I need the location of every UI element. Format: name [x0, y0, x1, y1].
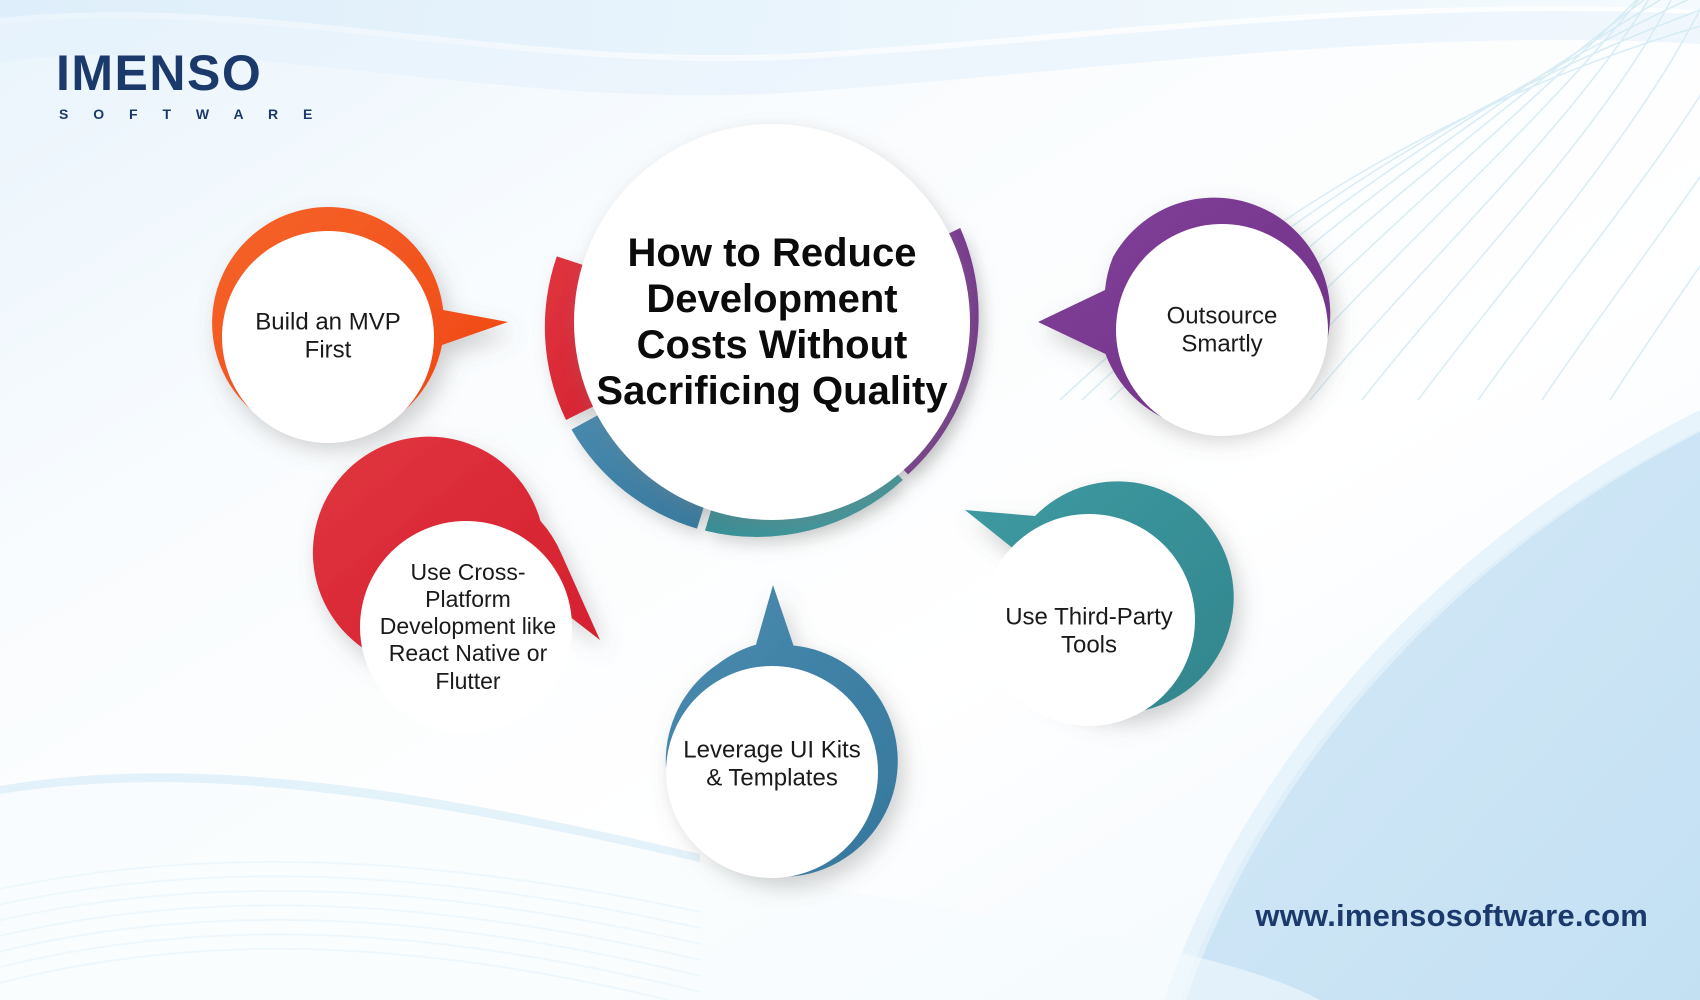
node-outsource-disc [1116, 224, 1328, 436]
node-build-mvp-disc [222, 231, 434, 443]
node-outsource[interactable] [1038, 198, 1330, 436]
node-third-party-tools[interactable] [965, 481, 1234, 726]
node-cross-platform-disc [360, 521, 572, 733]
node-ui-kits[interactable] [666, 585, 898, 878]
node-build-mvp[interactable] [212, 207, 508, 443]
cycle-diagram [0, 0, 1700, 1000]
node-third-party-tools-disc [983, 514, 1195, 726]
node-ui-kits-disc [666, 666, 878, 878]
website-url[interactable]: www.imensosoftware.com [1255, 898, 1648, 934]
infographic-canvas: IMENSO S O F T W A R E [0, 0, 1700, 1000]
center-circle [574, 124, 970, 520]
node-cross-platform[interactable] [313, 437, 600, 733]
